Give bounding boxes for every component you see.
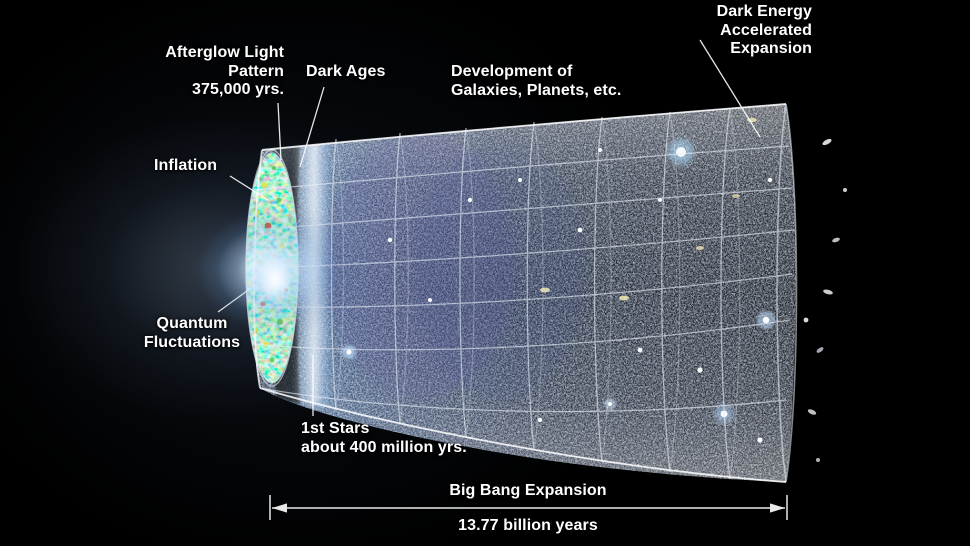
big-bang-core-glow <box>240 240 310 320</box>
arrow-head-right <box>770 503 785 512</box>
escaping-galaxies <box>804 138 847 462</box>
label-total-age: 13.77 billion years <box>0 517 970 536</box>
label-development-of-galaxies: Development of Galaxies, Planets, etc. <box>451 63 621 100</box>
label-afterglow-light-pattern: Afterglow Light Pattern 375,000 yrs. <box>152 44 284 100</box>
label-first-stars: 1st Stars about 400 million yrs. <box>301 420 467 457</box>
arrow-head-left <box>272 503 287 512</box>
label-dark-energy: Dark Energy Accelerated Expansion <box>662 3 812 59</box>
diagram-canvas: Afterglow Light Pattern 375,000 yrs. Dar… <box>0 0 970 546</box>
label-inflation: Inflation <box>154 157 217 176</box>
label-total-age-text: 13.77 billion years <box>458 517 598 534</box>
label-big-bang-expansion: Big Bang Expansion <box>0 482 970 501</box>
label-dark-ages: Dark Ages <box>306 63 385 82</box>
label-big-bang-expansion-text: Big Bang Expansion <box>449 482 606 499</box>
label-quantum-fluctuations: Quantum Fluctuations <box>128 315 256 352</box>
